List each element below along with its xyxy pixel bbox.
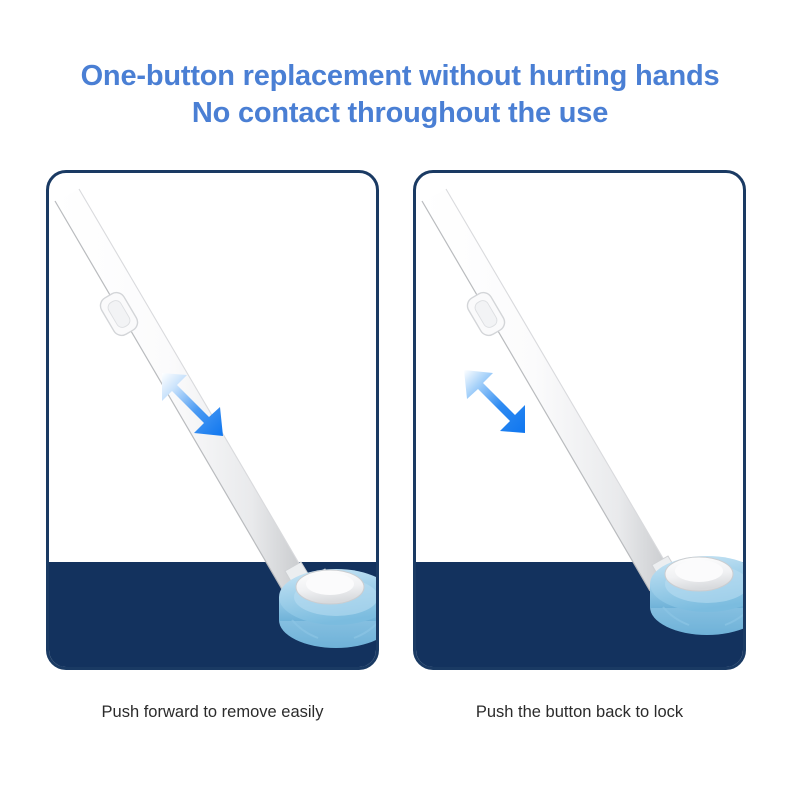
arrow-down-right-icon [157, 369, 231, 443]
panel-captions: Push forward to remove easily Push the b… [46, 700, 754, 730]
caption-push-back-to-lock: Push the button back to lock [413, 700, 746, 724]
page-title: One-button replacement without hurting h… [0, 58, 800, 132]
caption-push-forward: Push forward to remove easily [46, 700, 379, 724]
panel-push-back-to-lock [413, 170, 746, 670]
page-title-line-2: No contact throughout the use [0, 95, 800, 132]
mop-mount-disc-right [665, 557, 733, 591]
page-title-line-1: One-button replacement without hurting h… [0, 58, 800, 95]
panel-push-forward [46, 170, 379, 670]
instruction-panels [46, 170, 754, 674]
mop-mount-disc-left [296, 570, 364, 604]
arrow-up-left-icon [456, 363, 530, 437]
